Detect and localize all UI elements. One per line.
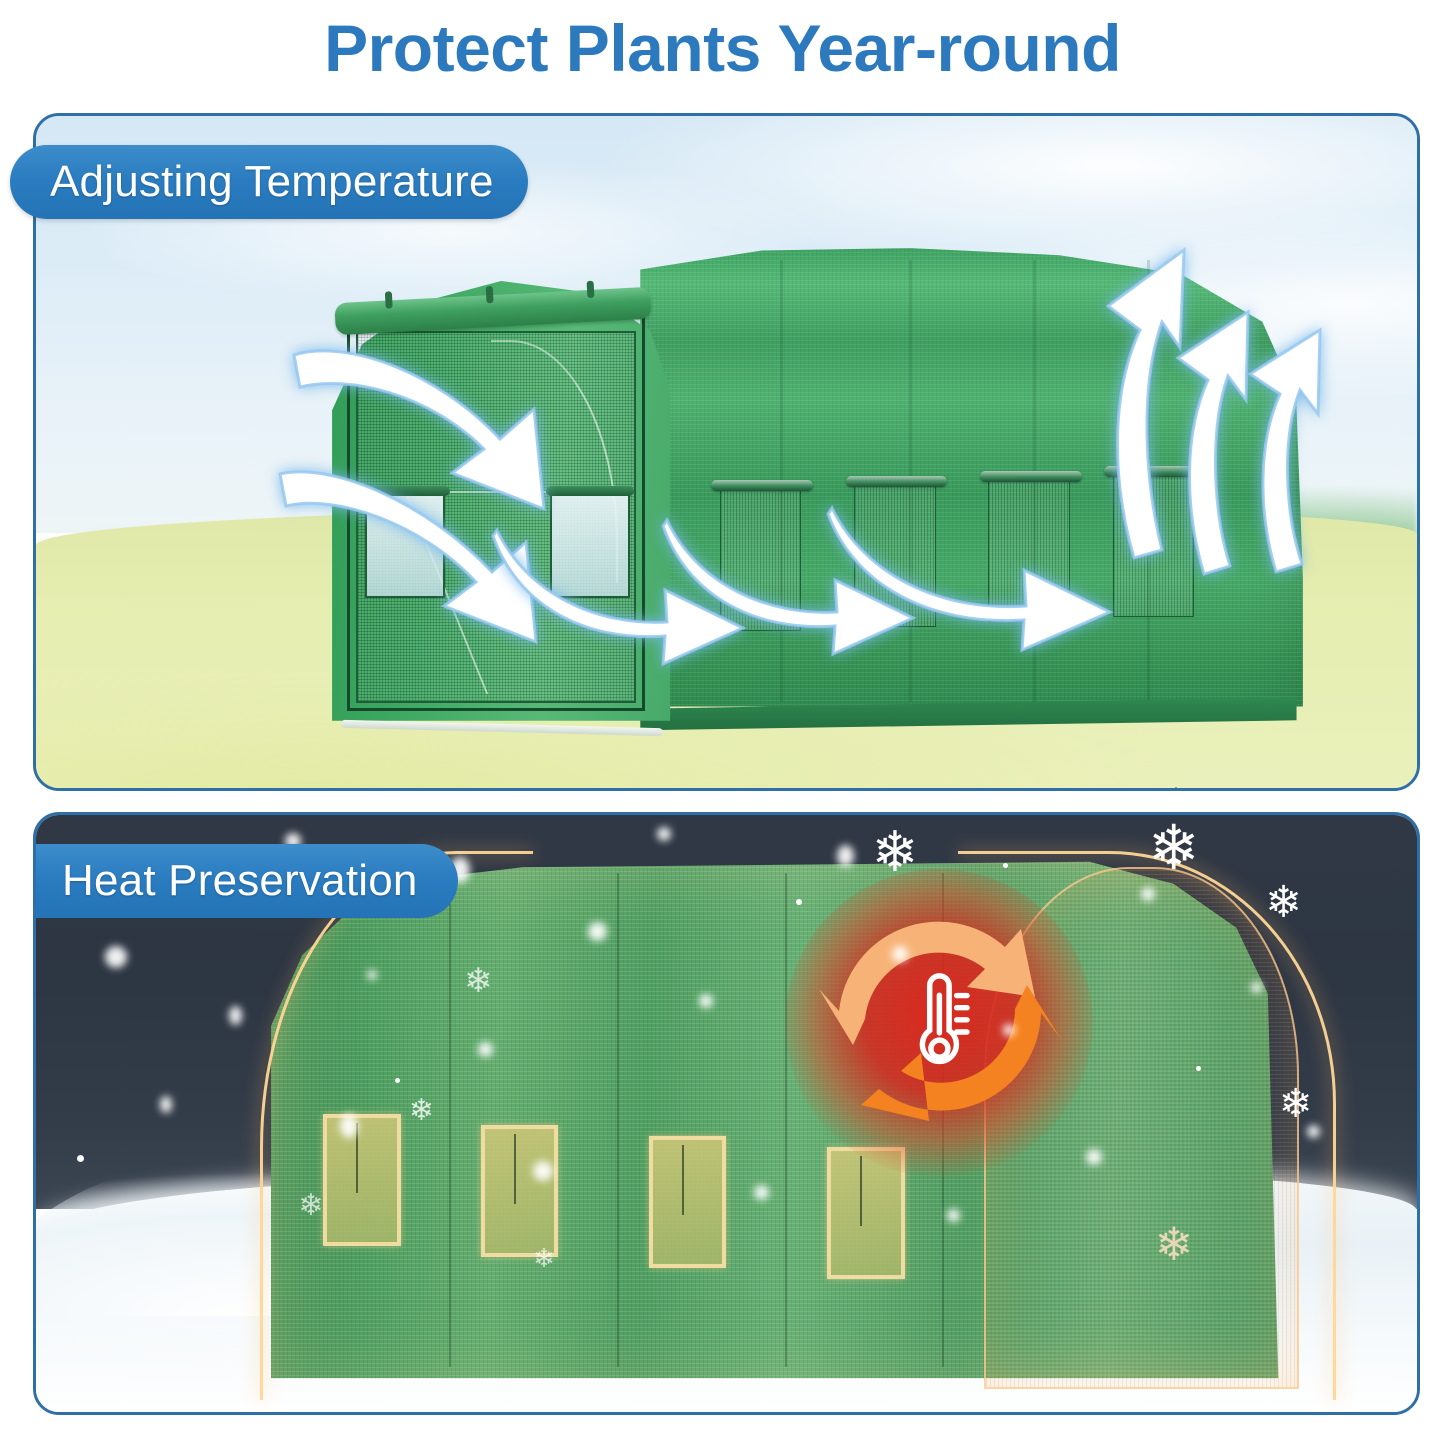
snowflake-icon: ❄ (872, 824, 919, 880)
snowflake-icon: ❄ (1279, 1084, 1313, 1124)
snowflake-icon: ❄ (409, 1096, 434, 1126)
arch-seam (785, 873, 787, 1367)
snow-particle (395, 1078, 400, 1083)
snowflake-icon: ❄ (1265, 881, 1302, 925)
snow-particle (837, 845, 854, 867)
window-cord-icon (682, 1145, 684, 1214)
snowflake-icon: ❄ (533, 1245, 555, 1271)
badge-heat-preservation: Heat Preservation (36, 844, 458, 918)
snow-particle (160, 1096, 172, 1113)
snowflake-icon: ❄ (298, 1191, 323, 1221)
heat-circulation-emblem (809, 893, 1069, 1153)
snow-particle (699, 994, 713, 1008)
thermometer-icon (903, 945, 976, 1106)
snow-particle (1307, 1125, 1320, 1138)
clip-icon (486, 286, 494, 303)
snow-particle (340, 1114, 358, 1138)
roller-bar-icon (711, 480, 813, 491)
clip-icon (587, 280, 595, 297)
grass-tuft (1142, 772, 1312, 791)
clip-icon (384, 291, 392, 308)
window-cord-icon (860, 1156, 862, 1225)
window (649, 1136, 727, 1268)
page-title: Protect Plants Year-round (0, 0, 1445, 96)
snowflake-icon: ❄ (464, 964, 493, 998)
hot-air-arrow-3 (1216, 326, 1336, 576)
snow-particle (796, 899, 802, 905)
badge-adjusting-temperature: Adjusting Temperature (10, 145, 528, 219)
snow-particle (1196, 1066, 1201, 1071)
snowflake-icon: ❄ (1155, 1221, 1194, 1267)
arch-seam (617, 873, 619, 1367)
snow-particle (1141, 887, 1155, 901)
snow-particle (1003, 863, 1008, 868)
snow-particle (478, 1042, 493, 1057)
snow-particle (1086, 1149, 1102, 1165)
warm-glow-front-edge (260, 851, 533, 1400)
snow-particle (1003, 1024, 1015, 1036)
snowflake-icon: ❄ (1148, 818, 1200, 880)
roller-bar-icon (846, 476, 948, 487)
